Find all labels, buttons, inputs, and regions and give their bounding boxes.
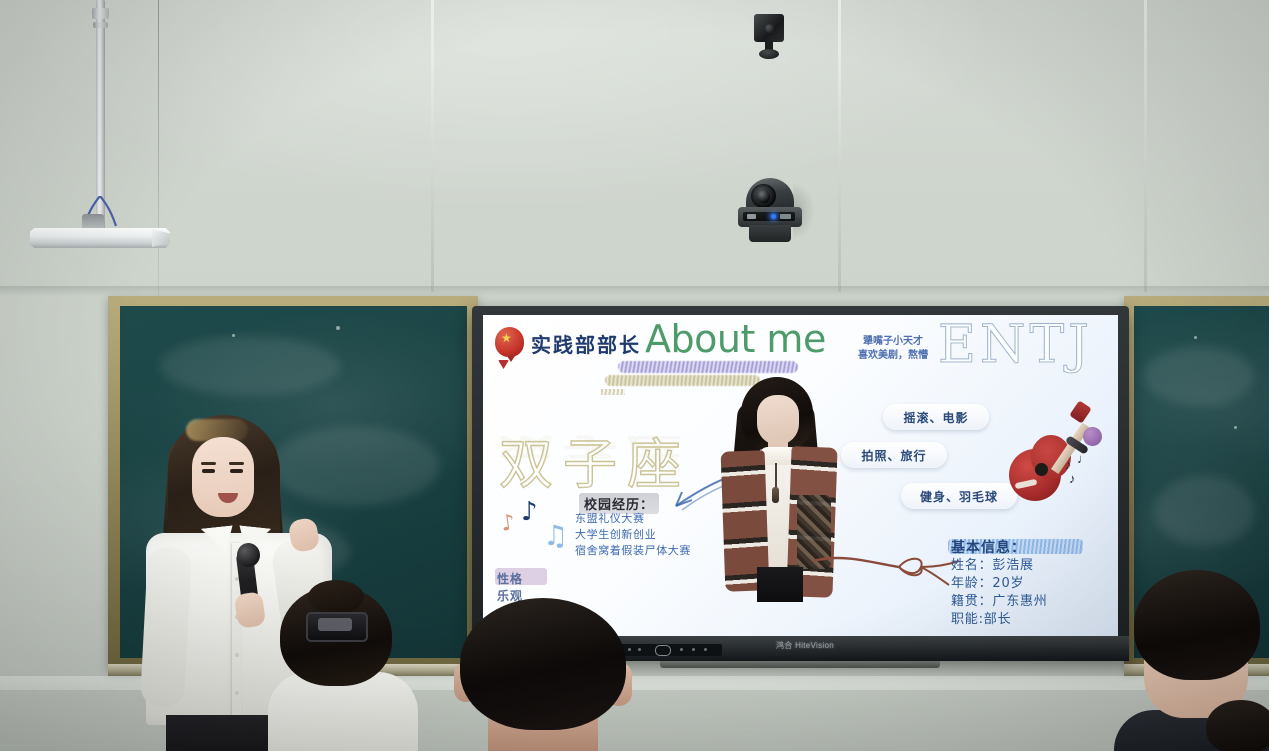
classroom-scene: ★ 实践部部长 About me 犟嘴子小天才 喜欢美剧，熬懵 ENTJ 双子座… <box>0 0 1269 751</box>
wall-seam <box>1144 0 1147 292</box>
ptz-camera-ir-emitter <box>747 214 756 219</box>
presenter-face <box>192 437 254 517</box>
audience-member <box>272 586 402 751</box>
ptz-camera <box>737 178 803 244</box>
ptz-camera-lens-icon <box>757 190 770 203</box>
presentation-slide: ★ 实践部部长 About me 犟嘴子小天才 喜欢美剧，熬懵 ENTJ 双子座… <box>483 315 1118 636</box>
wall-shadow-band <box>0 286 1269 296</box>
highlighter-scribble-purple <box>618 361 798 373</box>
ptz-camera-status-led <box>771 214 776 219</box>
slide-subtitle-line-2: 喜欢美剧，熬懵 <box>833 349 953 363</box>
interactive-display-screen[interactable]: ★ 实践部部长 About me 犟嘴子小天才 喜欢美剧，熬懵 ENTJ 双子座… <box>483 315 1118 636</box>
hobby-pill: 摇滚、电影 <box>883 404 989 430</box>
ceiling-light-fixture <box>30 228 170 248</box>
audience-member <box>448 598 638 751</box>
display-brand-logo: 鸿合 HiteVision <box>760 641 850 651</box>
slide-subtitle-line-1: 犟嘴子小天才 <box>833 335 953 349</box>
presenter-mic-hand <box>234 591 266 629</box>
experience-item: 东盟礼仪大赛 <box>575 511 691 527</box>
slide-role-badge: 实践部部长 <box>531 329 641 358</box>
wall-camera <box>754 14 784 60</box>
display-control-dot[interactable] <box>638 648 641 651</box>
balloon-icon: ★ <box>493 327 527 369</box>
hobby-pill: 健身、羽毛球 <box>901 483 1017 509</box>
audience-hair <box>1206 700 1269 751</box>
mbti-type-text: ENTJ <box>938 315 1093 375</box>
ceiling-cord <box>158 0 159 296</box>
slide-subtitle: 犟嘴子小天才 喜欢美剧，熬懵 <box>833 335 953 363</box>
experience-item: 宿舍窝着假装尸体大赛 <box>575 543 691 559</box>
display-control-dot[interactable] <box>680 648 683 651</box>
zodiac-text-reflection: 双子座 <box>499 431 691 467</box>
display-power-button[interactable] <box>655 645 671 656</box>
wall-seam <box>838 0 841 292</box>
wall-camera-lens-icon <box>765 24 774 33</box>
wall-light-sheen <box>0 0 1269 300</box>
basic-info-age: 年龄：20岁 <box>951 575 1048 593</box>
music-note-icon: ♫ <box>543 519 568 552</box>
guitar-icon: ♪ ♩ ♪ <box>1007 401 1111 507</box>
basic-info-list: 姓名：彭浩展 年龄：20岁 籍贯：广东惠州 职能:部长 <box>951 557 1048 629</box>
basic-info-hometown: 籍贯：广东惠州 <box>951 593 1048 611</box>
ptz-camera-bracket <box>749 225 791 242</box>
personality-label: 性格 <box>497 570 523 587</box>
experience-item: 大学生创新创业 <box>575 527 691 543</box>
wall-seam <box>431 0 434 292</box>
display-stand <box>660 661 940 668</box>
ribbon-decoration <box>813 547 963 587</box>
hobby-pill: 拍照、旅行 <box>841 442 947 468</box>
wall-camera-base <box>759 49 779 59</box>
experience-list: 东盟礼仪大赛 大学生创新创业 宿舍窝着假装尸体大赛 <box>575 511 691 559</box>
light-pole-collar <box>92 8 109 19</box>
basic-info-name: 姓名：彭浩展 <box>951 557 1048 575</box>
ptz-camera-ir-emitter <box>780 214 791 219</box>
music-note-icon: ♪ <box>521 497 538 527</box>
light-pole-collar <box>93 22 108 28</box>
slide-title: About me <box>645 317 826 361</box>
music-note-icon: ♪ <box>499 510 516 537</box>
audience-hair <box>460 598 626 730</box>
display-control-dot[interactable] <box>692 648 695 651</box>
audience-member <box>1206 700 1269 751</box>
basic-info-role: 职能:部长 <box>951 611 1048 629</box>
highlighter-scribble-small <box>601 389 625 395</box>
display-control-dot[interactable] <box>704 648 707 651</box>
basic-info-heading: 基本信息： <box>951 537 1026 557</box>
audience-hair <box>1134 570 1260 680</box>
